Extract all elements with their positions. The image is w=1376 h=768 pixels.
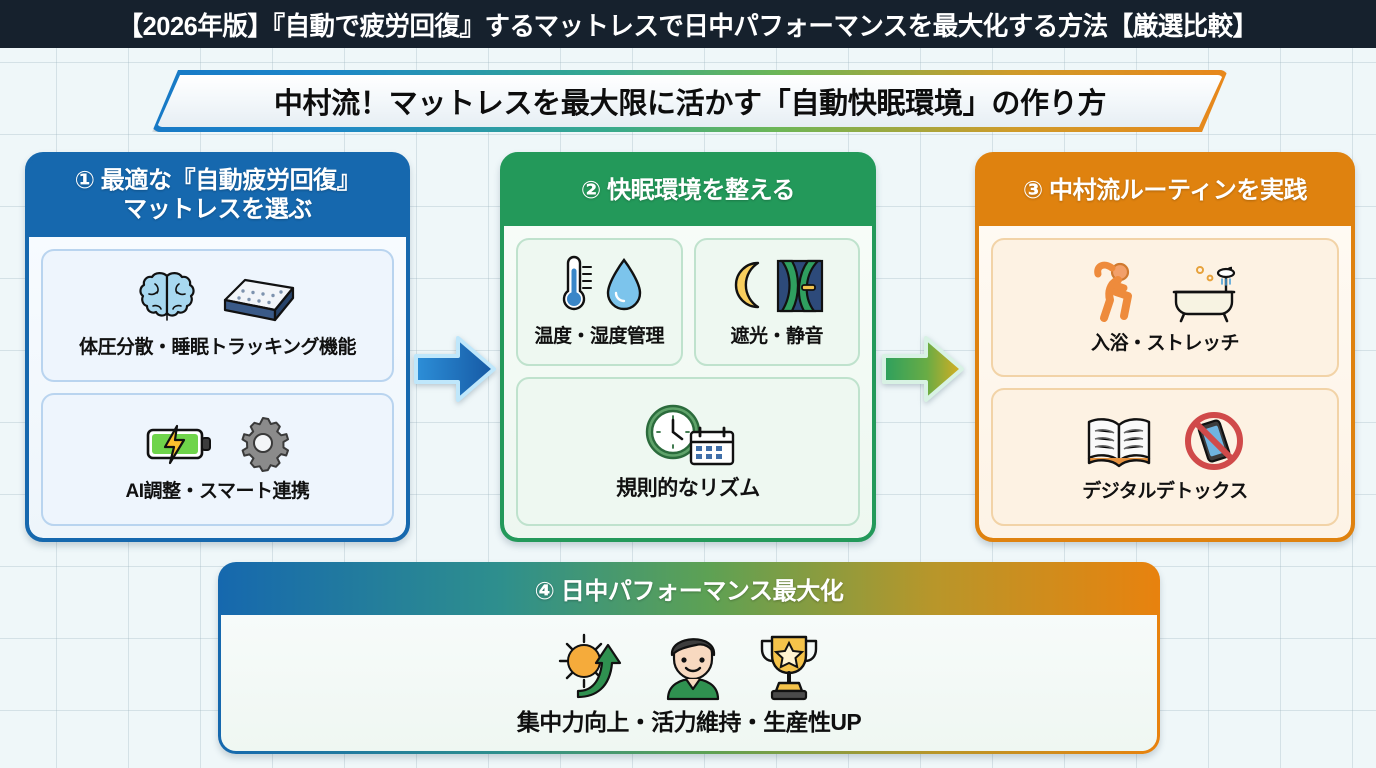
- card-step-4-icons: [552, 629, 826, 701]
- card-step-2-box-1: 温度・湿度管理: [516, 238, 683, 366]
- calendar-icon: [691, 428, 733, 464]
- card-step-4: ④ 日中パフォーマンス最大化: [218, 562, 1160, 754]
- person-icon: [656, 629, 730, 701]
- card-step-3-body: 入浴・ストレッチ: [979, 226, 1351, 538]
- water-drop-icon: [601, 255, 647, 317]
- card-step-1-box-2: AI調整・スマート連携: [41, 393, 394, 526]
- arrow-card1-to-card2: [412, 332, 498, 406]
- clock-icon: [635, 400, 741, 468]
- card-step-2-header: ② 快眠環境を整える: [504, 156, 872, 226]
- subtitle-banner-inner: 中村流！マットレスを最大限に活かす「自動快眠環境」の作り方: [157, 75, 1223, 127]
- card-step-3-box-1: 入浴・ストレッチ: [991, 238, 1339, 376]
- card-step-4-body: 集中力向上・活力維持・生産性UP: [221, 615, 1157, 751]
- subtitle-banner-text: 中村流！マットレスを最大限に活かす「自動快眠環境」の作り方: [274, 80, 1106, 122]
- gear-icon: [234, 414, 292, 472]
- card-step-2-box-3: 規則的なリズム: [516, 377, 860, 526]
- card-step-3-box-1-label: 入浴・ストレッチ: [1091, 328, 1239, 355]
- brain-icon: [135, 270, 199, 328]
- moon-icon: [726, 255, 770, 317]
- card-step-1-box-1: 体圧分散・睡眠トラッキング機能: [41, 249, 394, 382]
- card-step-2-body: 温度・湿度管理: [504, 226, 872, 538]
- card-step-1-header-line2: マットレスを選ぶ: [37, 195, 398, 224]
- open-book-icon: [1083, 411, 1155, 471]
- bathtub-icon: [1170, 258, 1242, 324]
- card-step-1-header-line1: ① 最適な『自動疲労回復』: [37, 166, 398, 195]
- no-phone-icon: [1181, 410, 1247, 472]
- card-step-2-box-3-icons: [635, 400, 741, 468]
- card-step-2-box-1-label: 温度・湿度管理: [534, 321, 664, 348]
- mattress-icon: [215, 270, 301, 328]
- battery-charging-icon: [144, 418, 218, 468]
- card-step-4-header: ④ 日中パフォーマンス最大化: [221, 565, 1157, 615]
- card-step-3-header: ③ 中村流ルーティンを実践: [979, 156, 1351, 226]
- curtain-icon: [772, 255, 828, 317]
- card-step-3-box-2: デジタルデトックス: [991, 388, 1339, 526]
- trophy-icon: [752, 629, 826, 701]
- card-step-1-body: 体圧分散・睡眠トラッキング機能: [29, 237, 406, 538]
- card-step-3: ③ 中村流ルーティンを実践: [975, 152, 1355, 542]
- card-step-1-box-2-label: AI調整・スマート連携: [126, 476, 310, 503]
- card-step-1-box-1-label: 体圧分散・睡眠トラッキング機能: [79, 332, 356, 359]
- card-step-2-row-top: 温度・湿度管理: [516, 238, 860, 366]
- page-title-bar: 【2026年版】『自動で疲労回復』するマットレスで日中パフォーマンスを最大化する…: [0, 0, 1376, 48]
- page-title: 【2026年版】『自動で疲労回復』するマットレスで日中パフォーマンスを最大化する…: [118, 6, 1258, 43]
- card-step-2: ② 快眠環境を整える: [500, 152, 876, 542]
- card-step-2-box-2-label: 遮光・静音: [730, 321, 823, 348]
- card-step-4-label: 集中力向上・活力維持・生産性UP: [517, 703, 861, 737]
- subtitle-banner: 中村流！マットレスを最大限に活かす「自動快眠環境」の作り方: [152, 70, 1228, 132]
- infographic-stage: 【2026年版】『自動で疲労回復』するマットレスで日中パフォーマンスを最大化する…: [0, 0, 1376, 768]
- card-step-2-box-2: 遮光・静音: [694, 238, 861, 366]
- card-step-1-header: ① 最適な『自動疲労回復』 マットレスを選ぶ: [29, 156, 406, 237]
- arrow-card2-to-card3: [880, 332, 966, 406]
- card-step-3-box-2-label: デジタルデトックス: [1082, 476, 1248, 503]
- subtitle-banner-border: 中村流！マットレスを最大限に活かす「自動快眠環境」の作り方: [152, 70, 1228, 132]
- card-step-2-box-2-icons: [726, 255, 828, 317]
- card-step-3-box-2-icons: [1083, 410, 1247, 472]
- card-step-1: ① 最適な『自動疲労回復』 マットレスを選ぶ: [25, 152, 410, 542]
- sun-rising-arrow-icon: [552, 629, 634, 701]
- card-step-1-box-2-icons: [144, 414, 292, 472]
- thermometer-icon: [551, 255, 597, 317]
- stretching-person-icon: [1088, 258, 1144, 324]
- card-step-2-box-3-label: 規則的なリズム: [616, 472, 760, 502]
- card-step-1-box-1-icons: [135, 270, 301, 328]
- card-step-2-box-1-icons: [551, 255, 647, 317]
- card-step-3-box-1-icons: [1088, 258, 1242, 324]
